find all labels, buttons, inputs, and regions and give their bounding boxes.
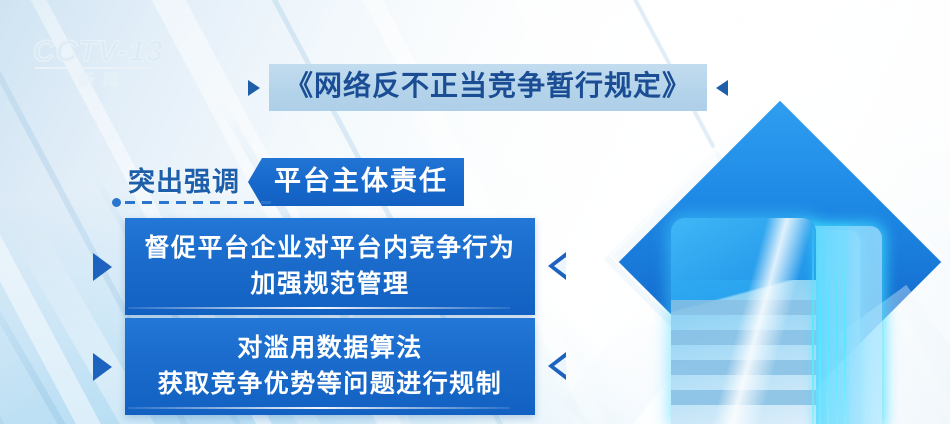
triangle-right-icon — [93, 353, 112, 381]
point-box-1: 督促平台企业对平台内竞争行为 加强规范管理 — [125, 218, 535, 315]
document-icon — [671, 218, 816, 424]
document-sheen — [671, 218, 816, 424]
emphasis-dashed-rule — [112, 198, 277, 207]
point-row-2: 对滥用数据算法 获取竞争优势等问题进行规制 — [93, 318, 566, 415]
regulation-title: 《网络反不正当竞争暂行规定》 — [269, 64, 707, 111]
document-diamond-illustration — [598, 118, 950, 424]
point-box-1-underline — [128, 307, 510, 309]
point-1-line-2: 加强规范管理 — [143, 266, 517, 302]
bullet-dot-icon — [112, 198, 121, 207]
emphasis-label: 突出强调 — [128, 165, 248, 199]
triangle-left-icon — [716, 80, 728, 96]
point-box-2-underline — [128, 407, 510, 409]
triangle-left-outline-icon — [548, 252, 566, 281]
emphasis-banner: 平台主体责任 — [248, 158, 464, 206]
point-2-line-1: 对滥用数据算法 — [143, 330, 517, 366]
point-2-line-2: 获取竞争优势等问题进行规制 — [143, 366, 517, 402]
point-row-1: 督促平台企业对平台内竞争行为 加强规范管理 — [93, 218, 566, 315]
triangle-right-icon — [93, 253, 112, 281]
broadcast-graphic-screen: CCTV-13 新闻 《网络反不正当竞争暂行规定》 — [0, 0, 950, 424]
regulation-title-row: 《网络反不正当竞争暂行规定》 — [248, 64, 728, 111]
document-glow-edge — [810, 226, 850, 424]
point-1-line-1: 督促平台企业对平台内竞争行为 — [143, 230, 517, 266]
dashed-line — [125, 201, 277, 204]
triangle-right-icon — [248, 80, 260, 96]
triangle-left-outline-icon — [548, 352, 566, 381]
point-box-2: 对滥用数据算法 获取竞争优势等问题进行规制 — [125, 318, 535, 415]
